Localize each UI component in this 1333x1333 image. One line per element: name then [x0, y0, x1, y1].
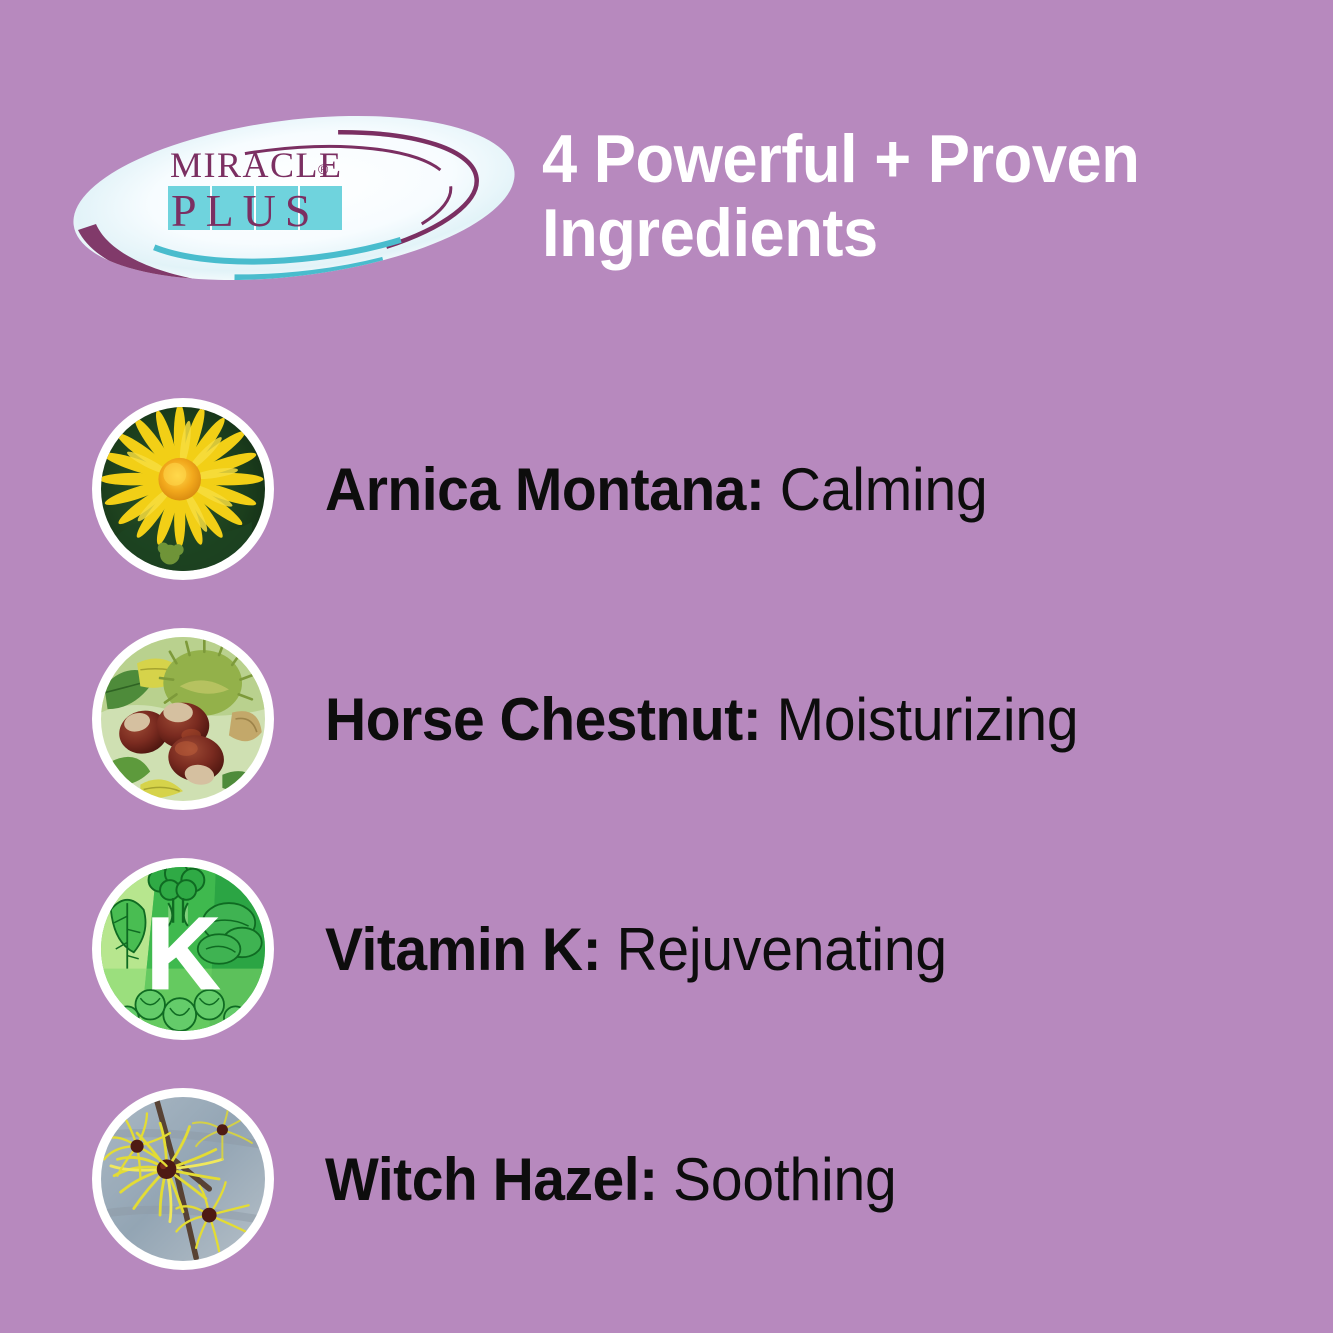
- ingredient-row: Witch Hazel: Soothing: [0, 1080, 1333, 1310]
- header: MIRACLE ® PLUS 4 Powerful + Proven Ingre…: [0, 0, 1333, 330]
- ingredient-name: Witch Hazel:: [325, 1146, 673, 1213]
- horse-chestnut-icon: [92, 628, 274, 810]
- page-title-line-1: 4 Powerful + Proven: [542, 122, 1230, 196]
- ingredient-benefit: Moisturizing: [777, 686, 1079, 753]
- ingredient-benefit: Rejuvenating: [616, 916, 946, 983]
- ingredient-benefit: Soothing: [673, 1146, 897, 1213]
- ingredient-list: Arnica Montana: Calming: [0, 390, 1333, 1310]
- svg-text:®: ®: [318, 161, 329, 177]
- svg-text:MIRACLE: MIRACLE: [170, 145, 343, 185]
- ingredient-name: Arnica Montana:: [325, 456, 780, 523]
- ingredient-row: K Vitamin K: Rejuvenating: [0, 850, 1333, 1080]
- ingredient-label: Arnica Montana: Calming: [325, 446, 988, 534]
- ingredient-name: Vitamin K:: [325, 916, 616, 983]
- witch-hazel-icon: [92, 1088, 274, 1270]
- ingredient-label: Vitamin K: Rejuvenating: [325, 906, 947, 994]
- vitamin-k-letter: K: [146, 896, 219, 1010]
- ingredient-label: Horse Chestnut: Moisturizing: [325, 676, 1078, 764]
- page-title-line-2: Ingredients: [542, 196, 1230, 270]
- ingredient-label: Witch Hazel: Soothing: [325, 1136, 897, 1224]
- ingredient-name: Horse Chestnut:: [325, 686, 777, 753]
- arnica-flower-icon: [92, 398, 274, 580]
- svg-text:PLUS: PLUS: [171, 185, 319, 236]
- ingredient-row: Arnica Montana: Calming: [0, 390, 1333, 620]
- miracle-plus-logo: MIRACLE ® PLUS: [68, 112, 520, 284]
- page-title: 4 Powerful + Proven Ingredients: [542, 122, 1282, 270]
- ingredient-row: Horse Chestnut: Moisturizing: [0, 620, 1333, 850]
- vitamin-k-icon: K: [92, 858, 274, 1040]
- ingredient-benefit: Calming: [780, 456, 988, 523]
